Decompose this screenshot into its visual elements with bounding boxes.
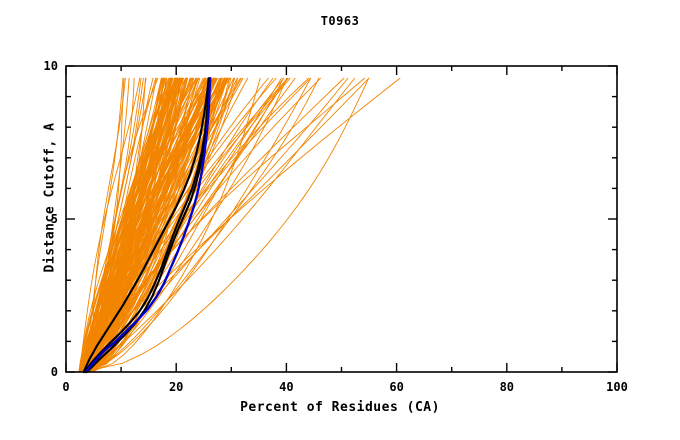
x-tick-label: 80 bbox=[500, 380, 514, 394]
plot-canvas bbox=[0, 0, 680, 440]
x-tick-label: 100 bbox=[606, 380, 628, 394]
curves-layer bbox=[79, 78, 400, 372]
y-tick-label: 10 bbox=[40, 59, 58, 73]
x-tick-label: 0 bbox=[62, 380, 69, 394]
y-tick-label: 0 bbox=[40, 365, 58, 379]
x-tick-label: 20 bbox=[169, 380, 183, 394]
x-tick-label: 60 bbox=[389, 380, 403, 394]
x-tick-label: 40 bbox=[279, 380, 293, 394]
plot-figure: T0963 Percent of Residues (CA) Distance … bbox=[0, 0, 680, 440]
y-tick-label: 5 bbox=[40, 212, 58, 226]
